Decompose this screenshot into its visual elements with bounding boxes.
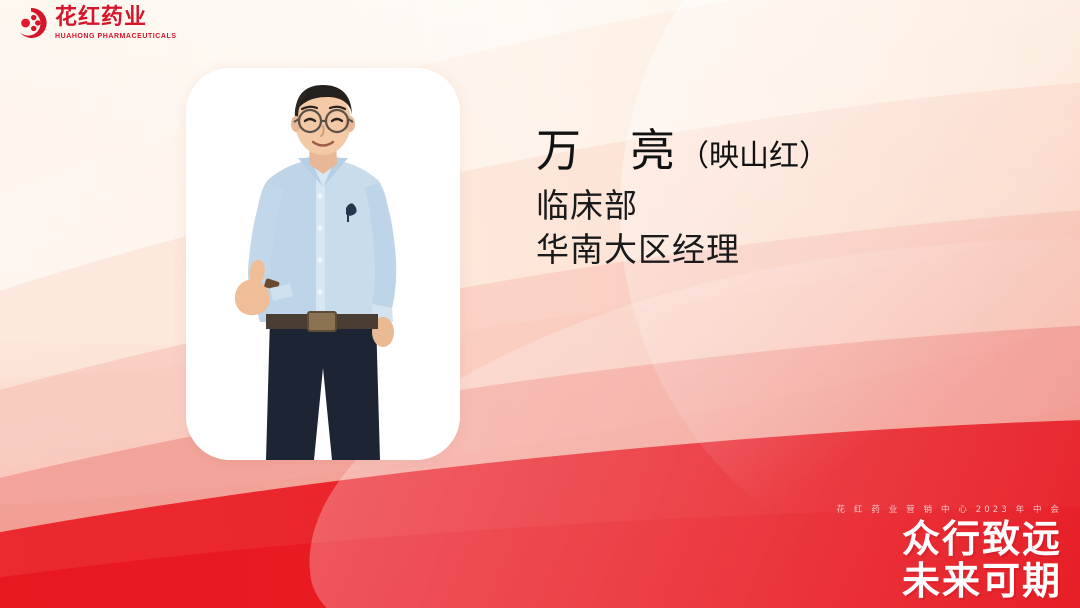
profile-alias: （映山红） — [679, 140, 829, 174]
portrait-photo — [186, 68, 460, 460]
event-kicker: 花 红 药 业 营 销 中 心 2023 年 中 会 — [837, 503, 1062, 515]
portrait-card — [186, 68, 460, 460]
event-slogan: 花 红 药 业 营 销 中 心 2023 年 中 会 众行致远 未来可期 — [837, 503, 1062, 602]
profile-department: 临床部 — [536, 184, 829, 228]
profile-name-row: 万 亮 （映山红） — [536, 126, 829, 176]
brand-logo: 花红药业 HUAHONG PHARMACEUTICALS — [14, 6, 177, 40]
brand-name-cn: 花红药业 — [55, 7, 177, 29]
brand-name-en: HUAHONG PHARMACEUTICALS — [55, 33, 177, 40]
slogan-line-2: 未来可期 — [837, 561, 1062, 602]
profile-info: 万 亮 （映山红） 临床部 华南大区经理 — [536, 126, 829, 272]
huahong-circle-emblem-icon — [14, 6, 48, 40]
profile-name: 万 亮 — [536, 126, 677, 176]
brand-wordmark: 花红药业 HUAHONG PHARMACEUTICALS — [55, 7, 177, 40]
slogan-line-1: 众行致远 — [837, 519, 1062, 560]
profile-role-group: 临床部 华南大区经理 — [536, 184, 829, 272]
profile-title: 华南大区经理 — [536, 228, 829, 272]
slide-canvas: 花红药业 HUAHONG PHARMACEUTICALS — [0, 0, 1080, 608]
